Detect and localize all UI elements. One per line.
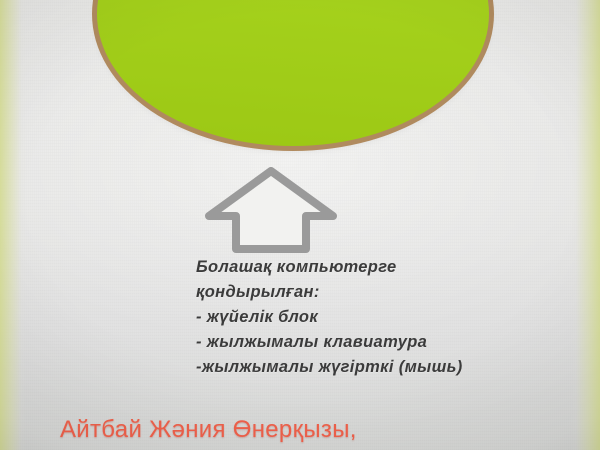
body-text-block: Болашақ компьютерге қондырылған: - жүйел… — [196, 255, 556, 380]
body-text-line: -жылжымалы жүгірткі (мышь) — [196, 355, 556, 380]
slide-photo-frame: Болашақ компьютерге қондырылған: - жүйел… — [0, 0, 600, 450]
body-text-line: қондырылған: — [196, 280, 556, 305]
body-text-line: Болашақ компьютерге — [196, 255, 556, 280]
body-text-line: - жылжымалы клавиатура — [196, 330, 556, 355]
body-text-line: - жүйелік блок — [196, 305, 556, 330]
up-arrow-icon — [203, 166, 339, 254]
author-caption: Айтбай Жәния Өнерқызы, — [60, 415, 357, 445]
